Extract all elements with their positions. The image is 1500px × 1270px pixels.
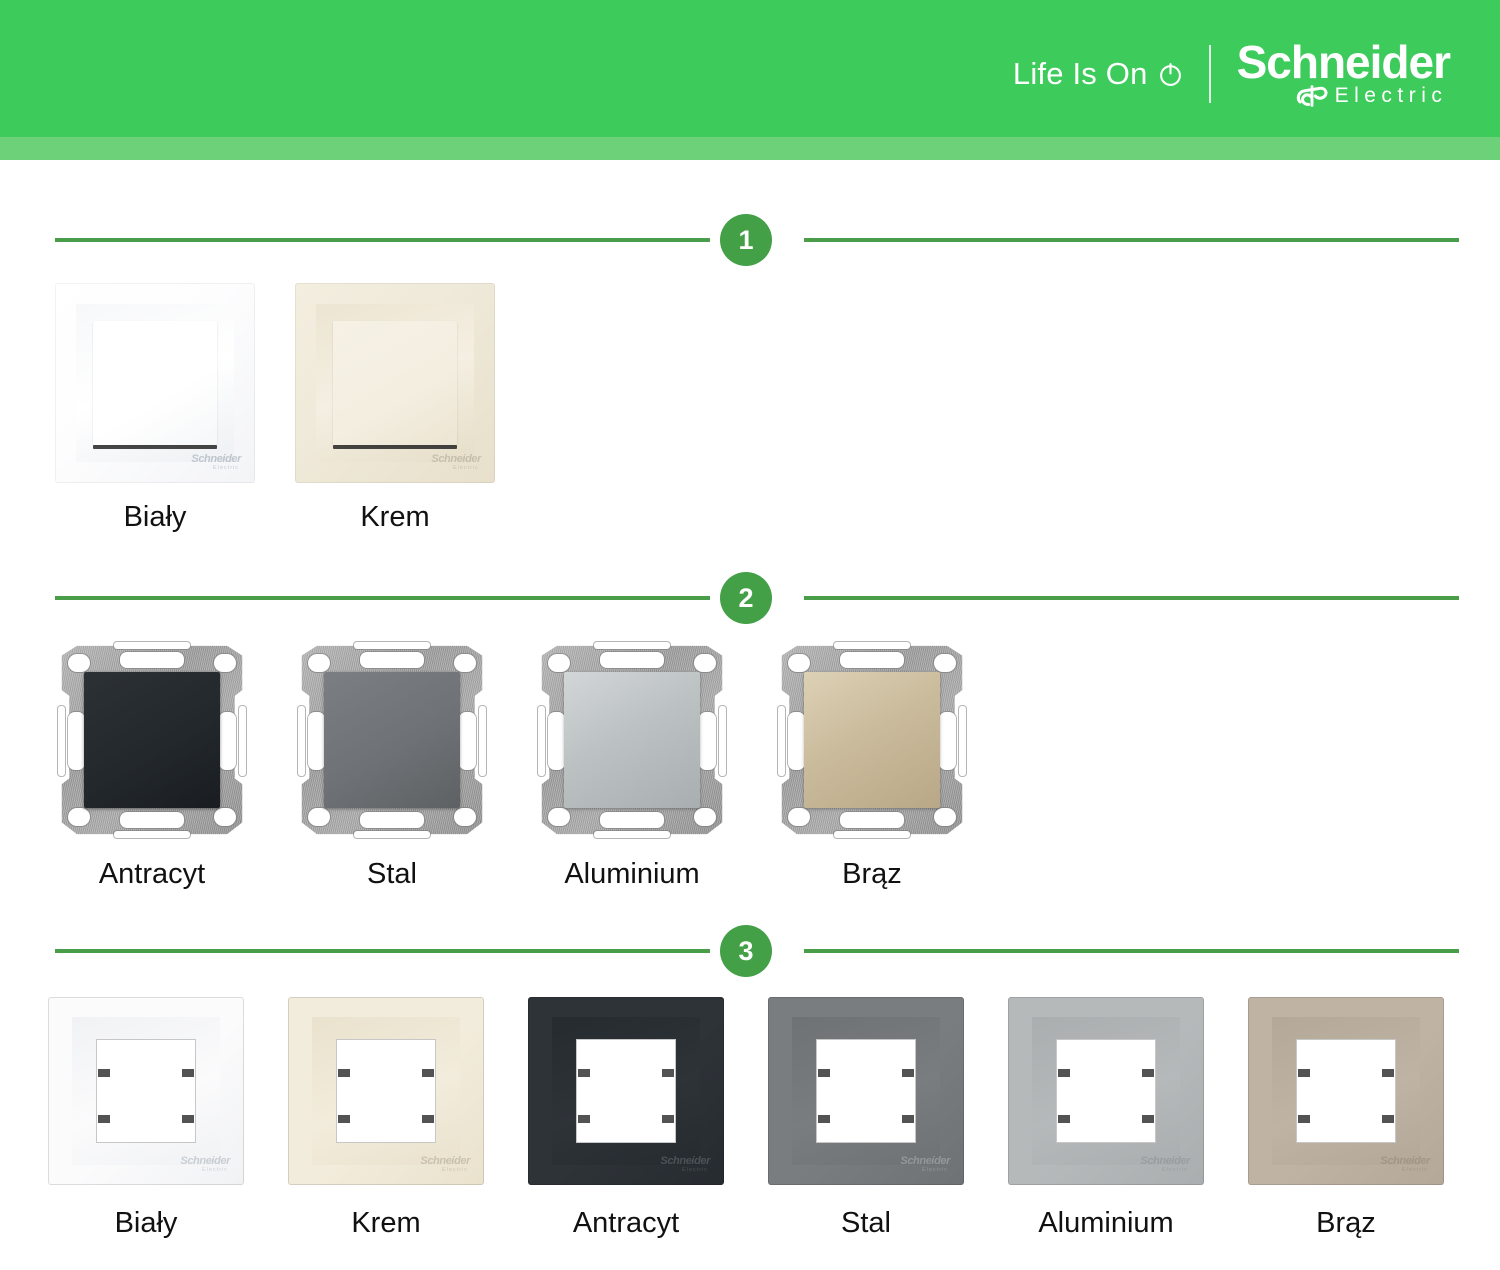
claw-slot-right (939, 712, 956, 770)
mechanism-rocker[interactable] (804, 672, 940, 808)
mounting-clip (1058, 1101, 1070, 1137)
switch-rocker[interactable] (333, 321, 457, 445)
section-divider-2: 2 (0, 572, 1500, 624)
product-cell-frame-3[interactable]: SchneiderElectricStal (768, 997, 964, 1240)
claw-rail-right (719, 706, 726, 776)
screw-hole (308, 808, 330, 826)
claw-rail-left (58, 706, 65, 776)
mounting-strip-bottom (834, 831, 910, 838)
product-label: Krem (360, 501, 429, 534)
divider-rule-left (55, 238, 710, 242)
frame-window (96, 1039, 196, 1143)
frame-product-image: SchneiderElectric (528, 997, 724, 1185)
divider-rule-left (55, 949, 710, 953)
mounting-slot-top (360, 652, 424, 668)
mechanism-product-image (778, 644, 966, 836)
mounting-clip (338, 1101, 350, 1137)
mounting-clip (422, 1101, 434, 1137)
mounting-strip-bottom (114, 831, 190, 838)
frame-product-image: SchneiderElectric (48, 997, 244, 1185)
frame-window (816, 1039, 916, 1143)
mounting-clip (98, 1055, 110, 1091)
mounting-clip (662, 1055, 674, 1091)
claw-slot-left (308, 712, 325, 770)
mechanism-rocker[interactable] (84, 672, 220, 808)
product-label: Stal (367, 858, 417, 891)
mounting-clip (818, 1101, 830, 1137)
product-label: Antracyt (573, 1207, 679, 1240)
screw-hole (454, 654, 476, 672)
frame-window (576, 1039, 676, 1143)
claw-slot-left (788, 712, 805, 770)
brand-divider (1209, 45, 1211, 103)
section-badge-2: 2 (720, 572, 772, 624)
product-label: Krem (351, 1207, 420, 1240)
mounting-strip-bottom (354, 831, 430, 838)
claw-rail-left (778, 706, 785, 776)
mounting-strip-bottom (594, 831, 670, 838)
brand-name: Schneider (1237, 40, 1450, 85)
product-label: Biały (115, 1207, 178, 1240)
claw-slot-left (68, 712, 85, 770)
mounting-clip (578, 1055, 590, 1091)
section-badge-1: 1 (720, 214, 772, 266)
brand-sub: Electric (1335, 85, 1448, 106)
product-cell-frame-2[interactable]: SchneiderElectricAntracyt (528, 997, 724, 1240)
mounting-clip (902, 1101, 914, 1137)
screw-hole (694, 654, 716, 672)
section-divider-3: 3 (0, 925, 1500, 977)
screw-hole (788, 808, 810, 826)
mechanism-product-image (538, 644, 726, 836)
mechanism-rocker[interactable] (324, 672, 460, 808)
mounting-strip-top (834, 642, 910, 649)
product-label: Brąz (1316, 1207, 1376, 1240)
mechanism-product-image (298, 644, 486, 836)
mounting-strip-top (114, 642, 190, 649)
frame-product-image: SchneiderElectric (1008, 997, 1204, 1185)
brand-block: Life Is On Schneider Electric (1013, 44, 1450, 104)
frame-window (1056, 1039, 1156, 1143)
tagline: Life Is On (1013, 56, 1183, 92)
mounting-clip (1382, 1055, 1394, 1091)
screw-hole (694, 808, 716, 826)
switch-product-image: Schneider Electric (55, 283, 255, 483)
product-cell-mech-stal[interactable]: Stal (298, 644, 486, 891)
brand-sub-row: Electric (1295, 84, 1448, 108)
switch-product-image: Schneider Electric (295, 283, 495, 483)
mounting-clip (578, 1101, 590, 1137)
frame-product-image: SchneiderElectric (768, 997, 964, 1185)
section-badge-3: 3 (720, 925, 772, 977)
divider-rule-right (804, 596, 1459, 600)
claw-slot-right (459, 712, 476, 770)
divider-rule-right (804, 949, 1459, 953)
mechanism-rocker[interactable] (564, 672, 700, 808)
mounting-clip (902, 1055, 914, 1091)
product-label: Stal (841, 1207, 891, 1240)
frame-product-image: SchneiderElectric (288, 997, 484, 1185)
product-cell-switch-bialy[interactable]: Schneider Electric Biały (55, 283, 255, 534)
screw-hole (68, 808, 90, 826)
mounting-slot-top (840, 652, 904, 668)
mounting-slot-bottom (360, 812, 424, 828)
schneider-bridge-icon (1295, 84, 1329, 108)
mounting-clip (1298, 1055, 1310, 1091)
mounting-slot-bottom (120, 812, 184, 828)
frame-window (336, 1039, 436, 1143)
mounting-clip (662, 1101, 674, 1137)
switch-rocker-shadow (333, 445, 457, 449)
mounting-clip (1142, 1055, 1154, 1091)
switch-rocker-shadow (93, 445, 217, 449)
claw-slot-right (699, 712, 716, 770)
product-row-switches: Schneider Electric Biały Schneider Elect… (0, 283, 1500, 534)
claw-rail-right (239, 706, 246, 776)
mounting-slot-top (600, 652, 664, 668)
product-cell-mech-antracyt[interactable]: Antracyt (58, 644, 246, 891)
product-cell-frame-1[interactable]: SchneiderElectricKrem (288, 997, 484, 1240)
claw-rail-right (479, 706, 486, 776)
claw-rail-left (538, 706, 545, 776)
product-label: Antracyt (99, 858, 205, 891)
screw-hole (68, 654, 90, 672)
screw-hole (548, 654, 570, 672)
claw-slot-right (219, 712, 236, 770)
mounting-clip (182, 1101, 194, 1137)
mounting-strip-top (594, 642, 670, 649)
screw-hole (214, 654, 236, 672)
switch-rocker[interactable] (93, 321, 217, 445)
claw-slot-left (548, 712, 565, 770)
schneider-electric-logo: Schneider Electric (1237, 40, 1450, 107)
mounting-strip-top (354, 642, 430, 649)
mechanism-product-image (58, 644, 246, 836)
header-accent-strip (0, 137, 1500, 160)
section-divider-1: 1 (0, 214, 1500, 266)
screw-hole (934, 654, 956, 672)
mounting-clip (1382, 1101, 1394, 1137)
tagline-text: Life Is On (1013, 56, 1148, 92)
screw-hole (454, 808, 476, 826)
claw-rail-left (298, 706, 305, 776)
mounting-slot-bottom (600, 812, 664, 828)
product-label: Biały (124, 501, 187, 534)
mounting-slot-top (120, 652, 184, 668)
frame-product-image: SchneiderElectric (1248, 997, 1444, 1185)
mounting-clip (1142, 1101, 1154, 1137)
mounting-clip (182, 1055, 194, 1091)
product-cell-mech-aluminium[interactable]: Aluminium (538, 644, 726, 891)
power-icon (1158, 62, 1183, 87)
screw-hole (308, 654, 330, 672)
product-cell-mech-braz[interactable]: Brąz (778, 644, 966, 891)
screw-hole (934, 808, 956, 826)
mounting-clip (818, 1055, 830, 1091)
divider-rule-left (55, 596, 710, 600)
product-label: Aluminium (564, 858, 699, 891)
product-cell-frame-0[interactable]: SchneiderElectricBiały (48, 997, 244, 1240)
mounting-clip (338, 1055, 350, 1091)
mounting-clip (1298, 1101, 1310, 1137)
mounting-clip (1058, 1055, 1070, 1091)
screw-hole (548, 808, 570, 826)
mounting-slot-bottom (840, 812, 904, 828)
product-row-frames: SchneiderElectricBiałySchneiderElectricK… (0, 997, 1500, 1240)
claw-rail-right (959, 706, 966, 776)
mounting-clip (98, 1101, 110, 1137)
mounting-clip (422, 1055, 434, 1091)
screw-hole (214, 808, 236, 826)
product-label: Aluminium (1038, 1207, 1173, 1240)
screw-hole (788, 654, 810, 672)
frame-window (1296, 1039, 1396, 1143)
product-cell-switch-krem[interactable]: Schneider Electric Krem (295, 283, 495, 534)
divider-rule-right (804, 238, 1459, 242)
product-row-mechanisms: Antracyt Stal (0, 644, 1500, 891)
product-cell-frame-4[interactable]: SchneiderElectricAluminium (1008, 997, 1204, 1240)
product-label: Brąz (842, 858, 902, 891)
product-cell-frame-5[interactable]: SchneiderElectricBrąz (1248, 997, 1444, 1240)
